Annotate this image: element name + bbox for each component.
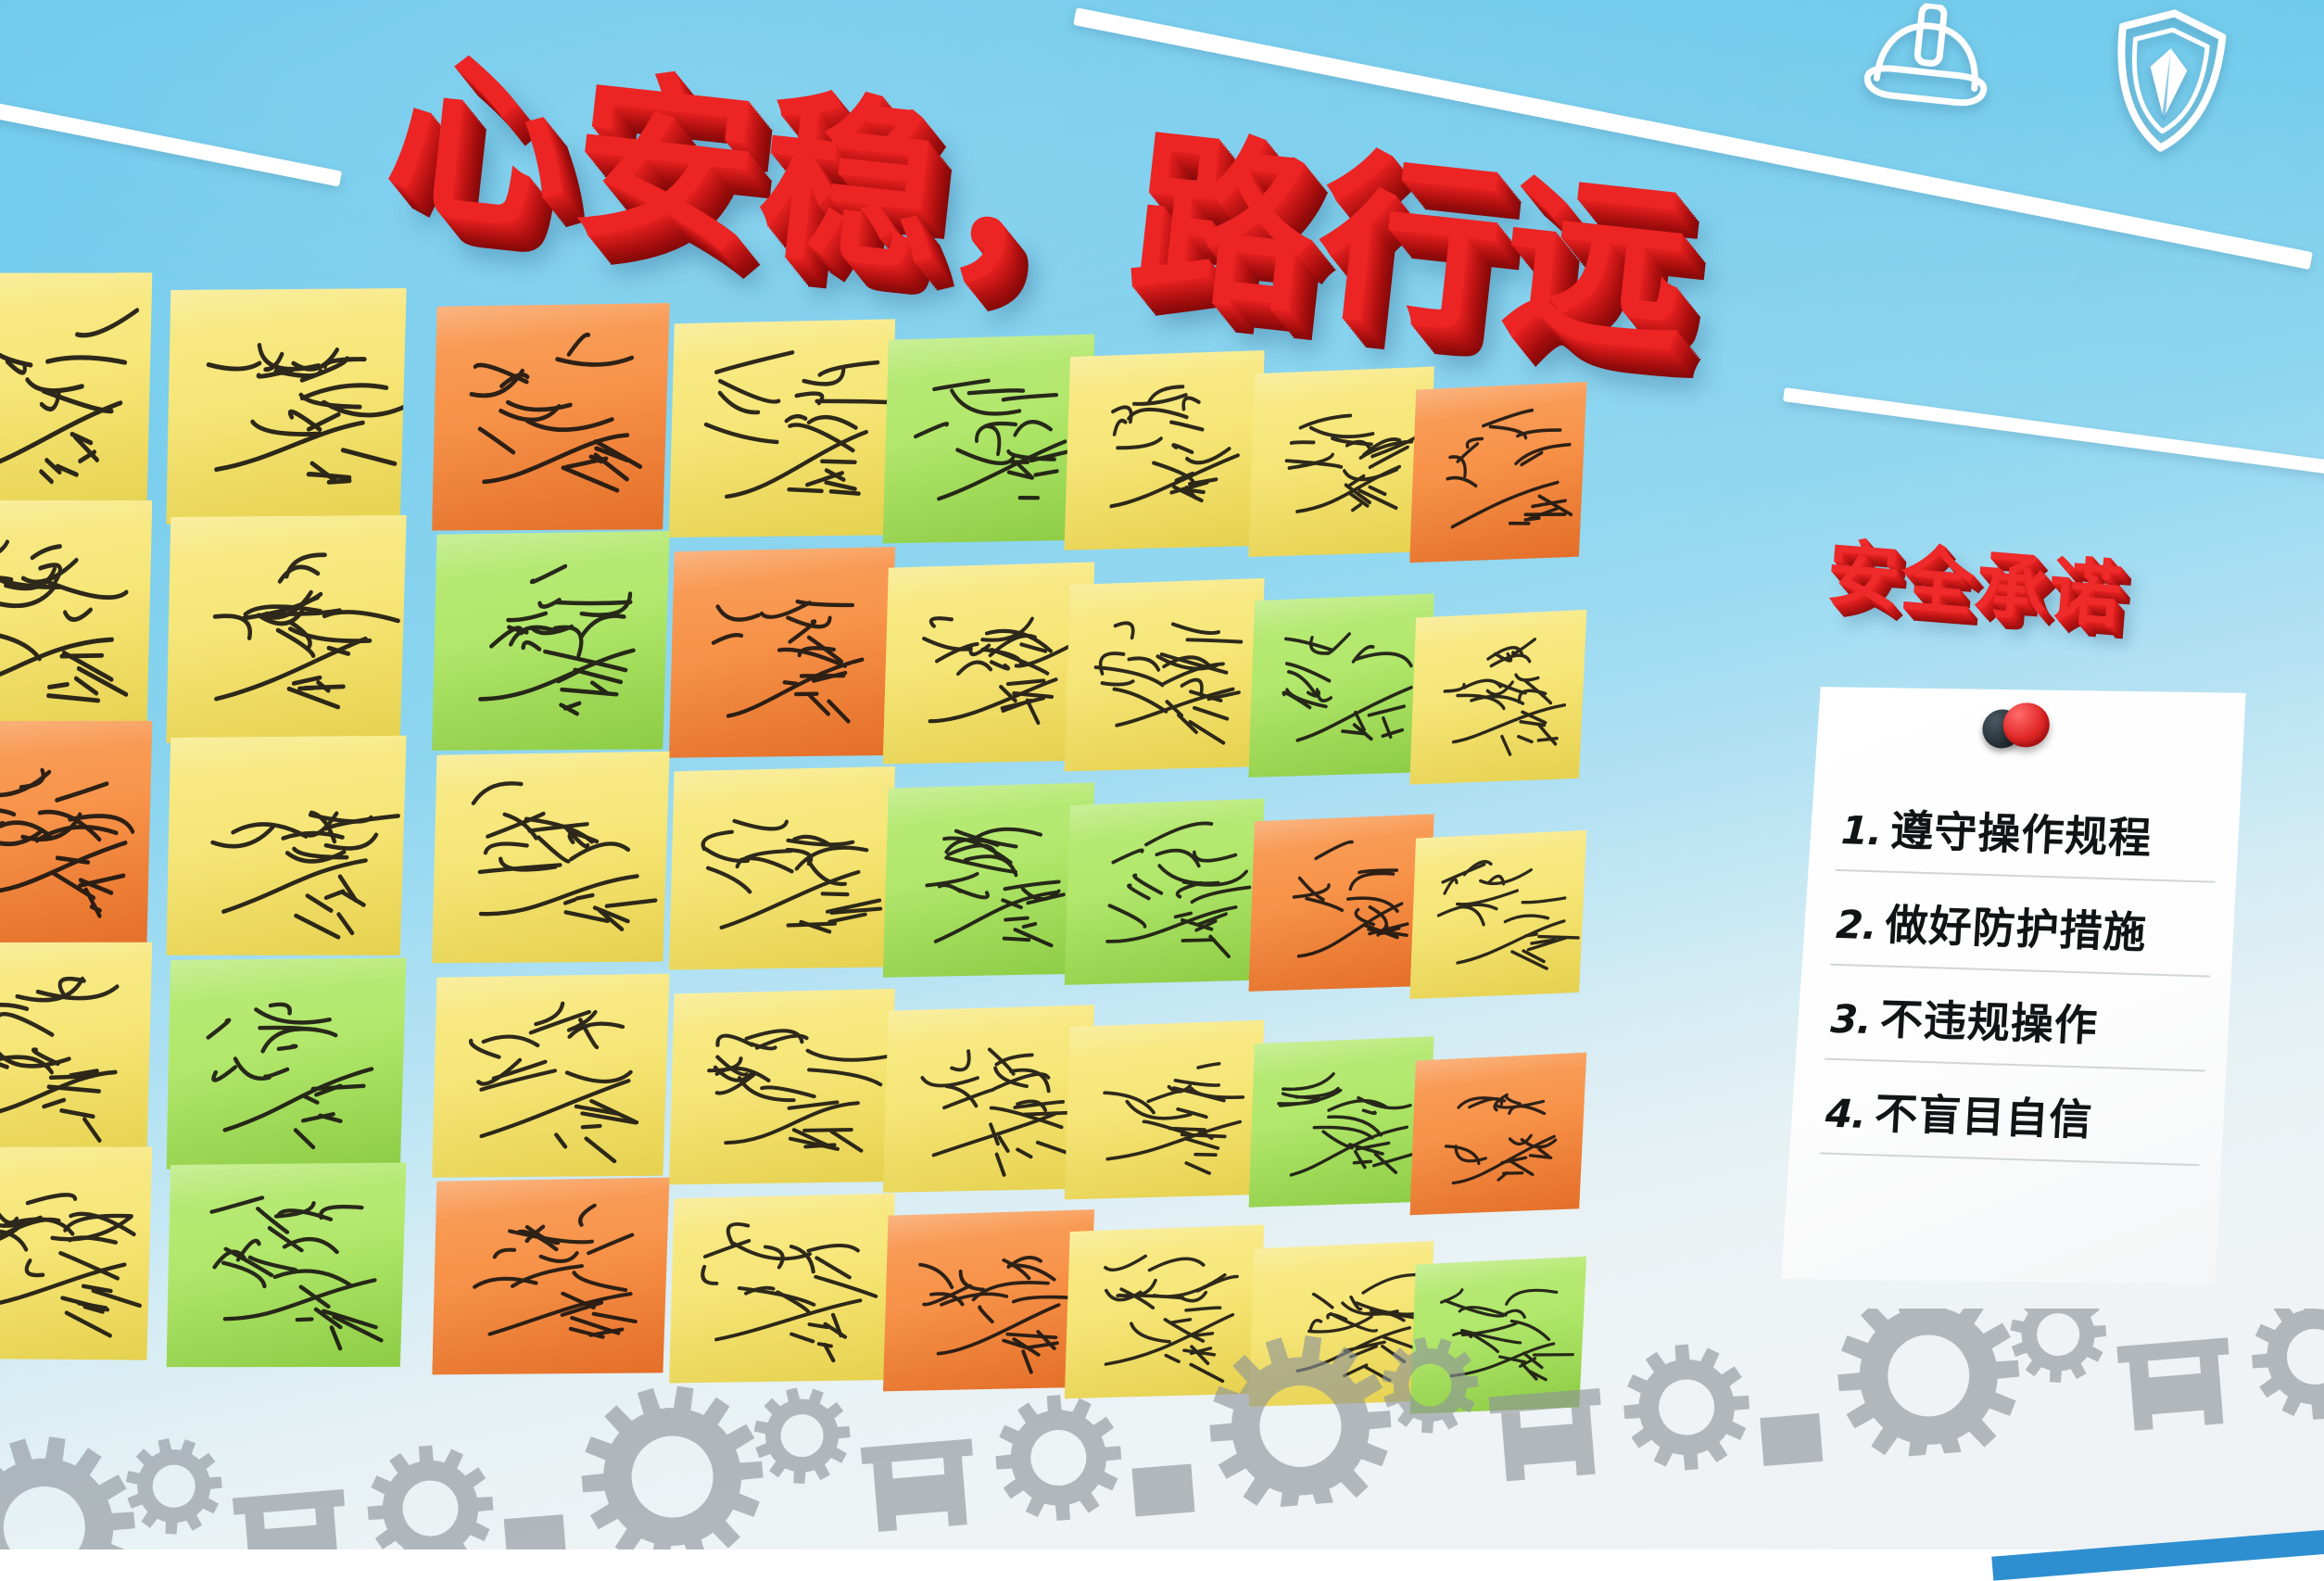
- gear-icon: [123, 1435, 226, 1538]
- signature-note[interactable]: [1064, 795, 1264, 989]
- commitment-heading: 安全承诺: [1825, 538, 2126, 633]
- note-signature: [1248, 1033, 1434, 1211]
- gear-icon: [991, 1390, 1127, 1525]
- machine-block: [504, 1514, 567, 1549]
- signature-note[interactable]: [1064, 575, 1265, 776]
- signature-note[interactable]: [432, 299, 670, 537]
- note-signature: [883, 1002, 1095, 1197]
- machine-block: [2145, 1373, 2205, 1415]
- note-signature: [669, 986, 895, 1190]
- signature-note[interactable]: [669, 543, 895, 763]
- note-signature: [0, 716, 152, 954]
- note-signature: [166, 732, 406, 961]
- gear-icon: [363, 1441, 499, 1549]
- signature-note[interactable]: [669, 764, 895, 976]
- signature-note[interactable]: [669, 315, 896, 543]
- note-signature: [1248, 591, 1434, 783]
- commitment-item: 4.不盲目自信: [1820, 1075, 2204, 1167]
- signature-note[interactable]: [166, 955, 406, 1175]
- signature-note[interactable]: [883, 1002, 1095, 1197]
- note-signature: [0, 497, 152, 742]
- machine-block: [1760, 1413, 1823, 1466]
- signature-note[interactable]: [1409, 828, 1586, 1004]
- note-signature: [1409, 379, 1587, 567]
- signature-note[interactable]: [166, 284, 407, 530]
- commitment-item-text: 遵守操作规程: [1889, 797, 2154, 866]
- gear-icon: [1379, 1334, 1482, 1437]
- commitment-item-number: 1.: [1840, 807, 1883, 854]
- signature-note[interactable]: [0, 497, 152, 742]
- note-signature: [1248, 811, 1434, 995]
- pushpin-head: [2002, 702, 2051, 748]
- commitment-item-number: 3.: [1829, 996, 1872, 1043]
- gear-icon: [1203, 1329, 1397, 1523]
- gear-icon: [0, 1430, 142, 1549]
- signature-note[interactable]: [0, 939, 152, 1167]
- signature-note[interactable]: [432, 970, 669, 1183]
- note-signature: [432, 970, 669, 1183]
- commitment-item: 2.做好防护措施: [1830, 886, 2215, 978]
- note-signature: [882, 331, 1094, 549]
- signature-note[interactable]: [432, 748, 670, 968]
- commitment-list: 1.遵守操作规程2.做好防护措施3.不违规操作4.不盲目自信: [1820, 791, 2220, 1166]
- signature-note[interactable]: [1248, 363, 1434, 562]
- commitment-item-text: 做好防护措施: [1884, 892, 2149, 961]
- signature-note[interactable]: [882, 779, 1094, 982]
- note-signature: [0, 269, 153, 524]
- signature-note[interactable]: [1248, 591, 1434, 783]
- signature-note[interactable]: [166, 512, 406, 749]
- commitment-item-number: 4.: [1825, 1091, 1867, 1137]
- signature-note[interactable]: [882, 559, 1094, 769]
- note-signature: [1064, 348, 1265, 556]
- commitment-item-number: 2.: [1835, 902, 1877, 948]
- commitment-item-text: 不违规操作: [1878, 986, 2100, 1054]
- note-signature: [1409, 607, 1586, 789]
- signature-note[interactable]: [882, 331, 1094, 549]
- machine-block: [1517, 1423, 1577, 1465]
- hard-hat-icon: [1851, 0, 2002, 135]
- gear-icon: [1831, 1309, 2026, 1473]
- commitment-item-text: 不盲目自信: [1874, 1080, 2095, 1147]
- signature-note[interactable]: [1409, 607, 1586, 789]
- gear-icon: [1619, 1340, 1754, 1475]
- machine-block: [1132, 1464, 1195, 1517]
- note-signature: [432, 299, 670, 537]
- note-signature: [882, 779, 1094, 982]
- note-signature: [1064, 575, 1265, 776]
- signature-note[interactable]: [669, 986, 895, 1190]
- gear-icon: [575, 1380, 770, 1549]
- signature-note[interactable]: [0, 716, 152, 954]
- signature-note[interactable]: [1409, 1050, 1586, 1220]
- signature-note[interactable]: [1248, 1033, 1434, 1211]
- signature-note[interactable]: [166, 732, 406, 961]
- commitment-item: 1.遵守操作规程: [1836, 791, 2220, 883]
- signature-note[interactable]: [432, 527, 670, 756]
- note-signature: [0, 939, 152, 1167]
- note-signature: [166, 512, 406, 749]
- note-signature: [1409, 1050, 1586, 1220]
- gear-icon: [751, 1384, 853, 1487]
- machine-block: [890, 1474, 950, 1516]
- shield-icon: [2101, 2, 2234, 162]
- note-signature: [432, 527, 670, 756]
- pushpin-icon: [1977, 700, 2060, 758]
- signature-note[interactable]: [1064, 348, 1265, 556]
- signature-note[interactable]: [1248, 811, 1434, 995]
- signature-note[interactable]: [1064, 1018, 1264, 1205]
- note-signature: [669, 543, 895, 763]
- note-signature: [882, 559, 1094, 769]
- commitment-paper: 1.遵守操作规程2.做好防护措施3.不违规操作4.不盲目自信: [1781, 679, 2248, 1293]
- note-signature: [1248, 363, 1434, 562]
- note-signature: [1409, 828, 1586, 1004]
- gear-icon: [2007, 1309, 2110, 1386]
- note-signature: [166, 955, 406, 1175]
- signature-note[interactable]: [1409, 379, 1587, 567]
- note-signature: [432, 748, 670, 968]
- signature-note-board: [0, 0, 1872, 1390]
- signature-note[interactable]: [0, 269, 153, 524]
- commitment-item: 3.不违规操作: [1825, 980, 2209, 1072]
- note-signature: [166, 284, 407, 530]
- note-signature: [669, 764, 895, 976]
- note-signature: [1064, 795, 1264, 989]
- gear-pattern-band: [0, 1309, 2324, 1549]
- machine-block: [261, 1524, 322, 1549]
- note-signature: [669, 315, 896, 543]
- note-signature: [1064, 1018, 1264, 1205]
- gear-icon: [2247, 1309, 2324, 1424]
